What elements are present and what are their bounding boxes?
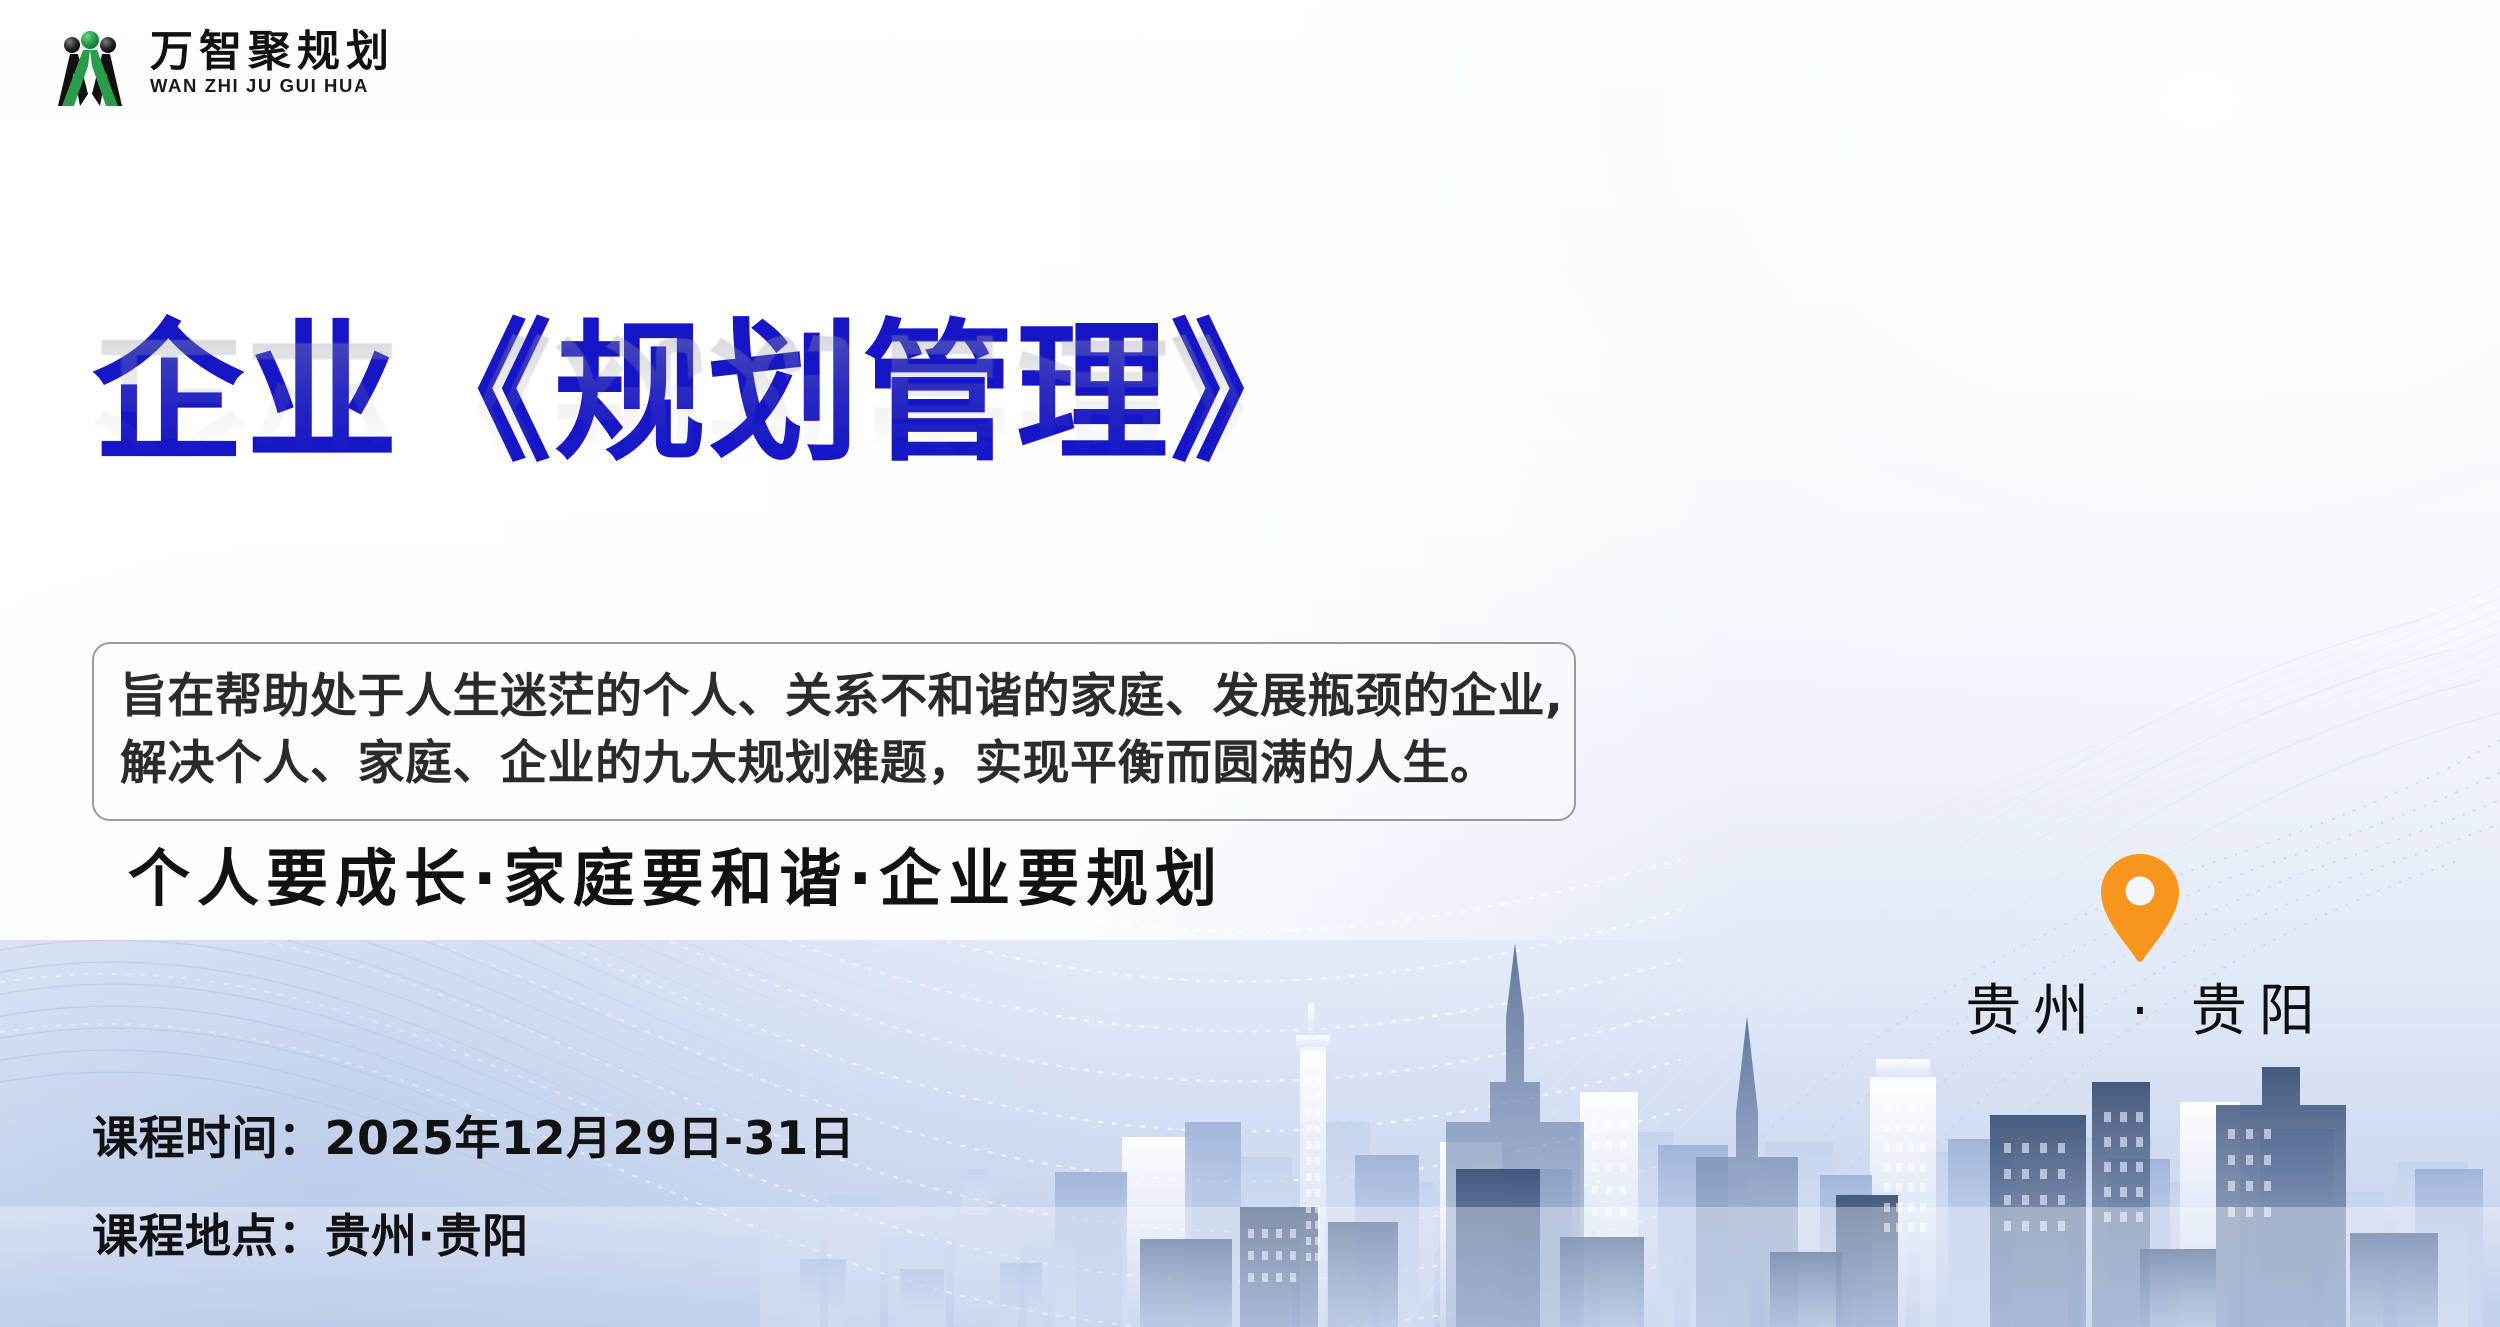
poster-canvas: 万智聚规划 WAN ZHI JU GUI HUA 企业《规划管理》 企业《规划管…	[0, 0, 2500, 1327]
brand-logo[interactable]: 万智聚规划 WAN ZHI JU GUI HUA	[48, 20, 395, 106]
course-place: 课程地点：贵州·贵阳	[92, 1213, 855, 1259]
description-line-2: 解决个人、家庭、企业的九大规划难题，实现平衡而圆满的人生。	[120, 731, 1548, 798]
tagline: 个人要成长·家庭要和谐·企业要规划	[128, 848, 1224, 910]
description-line-1: 旨在帮助处于人生迷茫的个人、关系不和谐的家庭、发展瓶颈的企业,	[120, 664, 1548, 731]
brand-text: 万智聚规划 WAN ZHI JU GUI HUA	[150, 31, 395, 95]
brand-name-pinyin: WAN ZHI JU GUI HUA	[150, 77, 395, 96]
title-group: 企业《规划管理》 企业《规划管理》	[92, 318, 1692, 630]
location-city: 贵州 · 贵阳	[1953, 984, 2326, 1040]
course-info: 课程时间：2025年12月29日-31日 课程地点：贵州·贵阳	[92, 1115, 855, 1259]
brand-name-cn: 万智聚规划	[150, 31, 395, 75]
map-pin-icon	[2099, 852, 2181, 964]
page-title-reflection: 企业《规划管理》	[92, 326, 1692, 478]
description-box: 旨在帮助处于人生迷茫的个人、关系不和谐的家庭、发展瓶颈的企业, 解决个人、家庭、…	[92, 642, 1576, 821]
three-people-m-logo-icon	[48, 20, 132, 106]
location-block: 贵州 · 贵阳	[1940, 852, 2340, 1040]
course-time: 课程时间：2025年12月29日-31日	[92, 1115, 855, 1161]
